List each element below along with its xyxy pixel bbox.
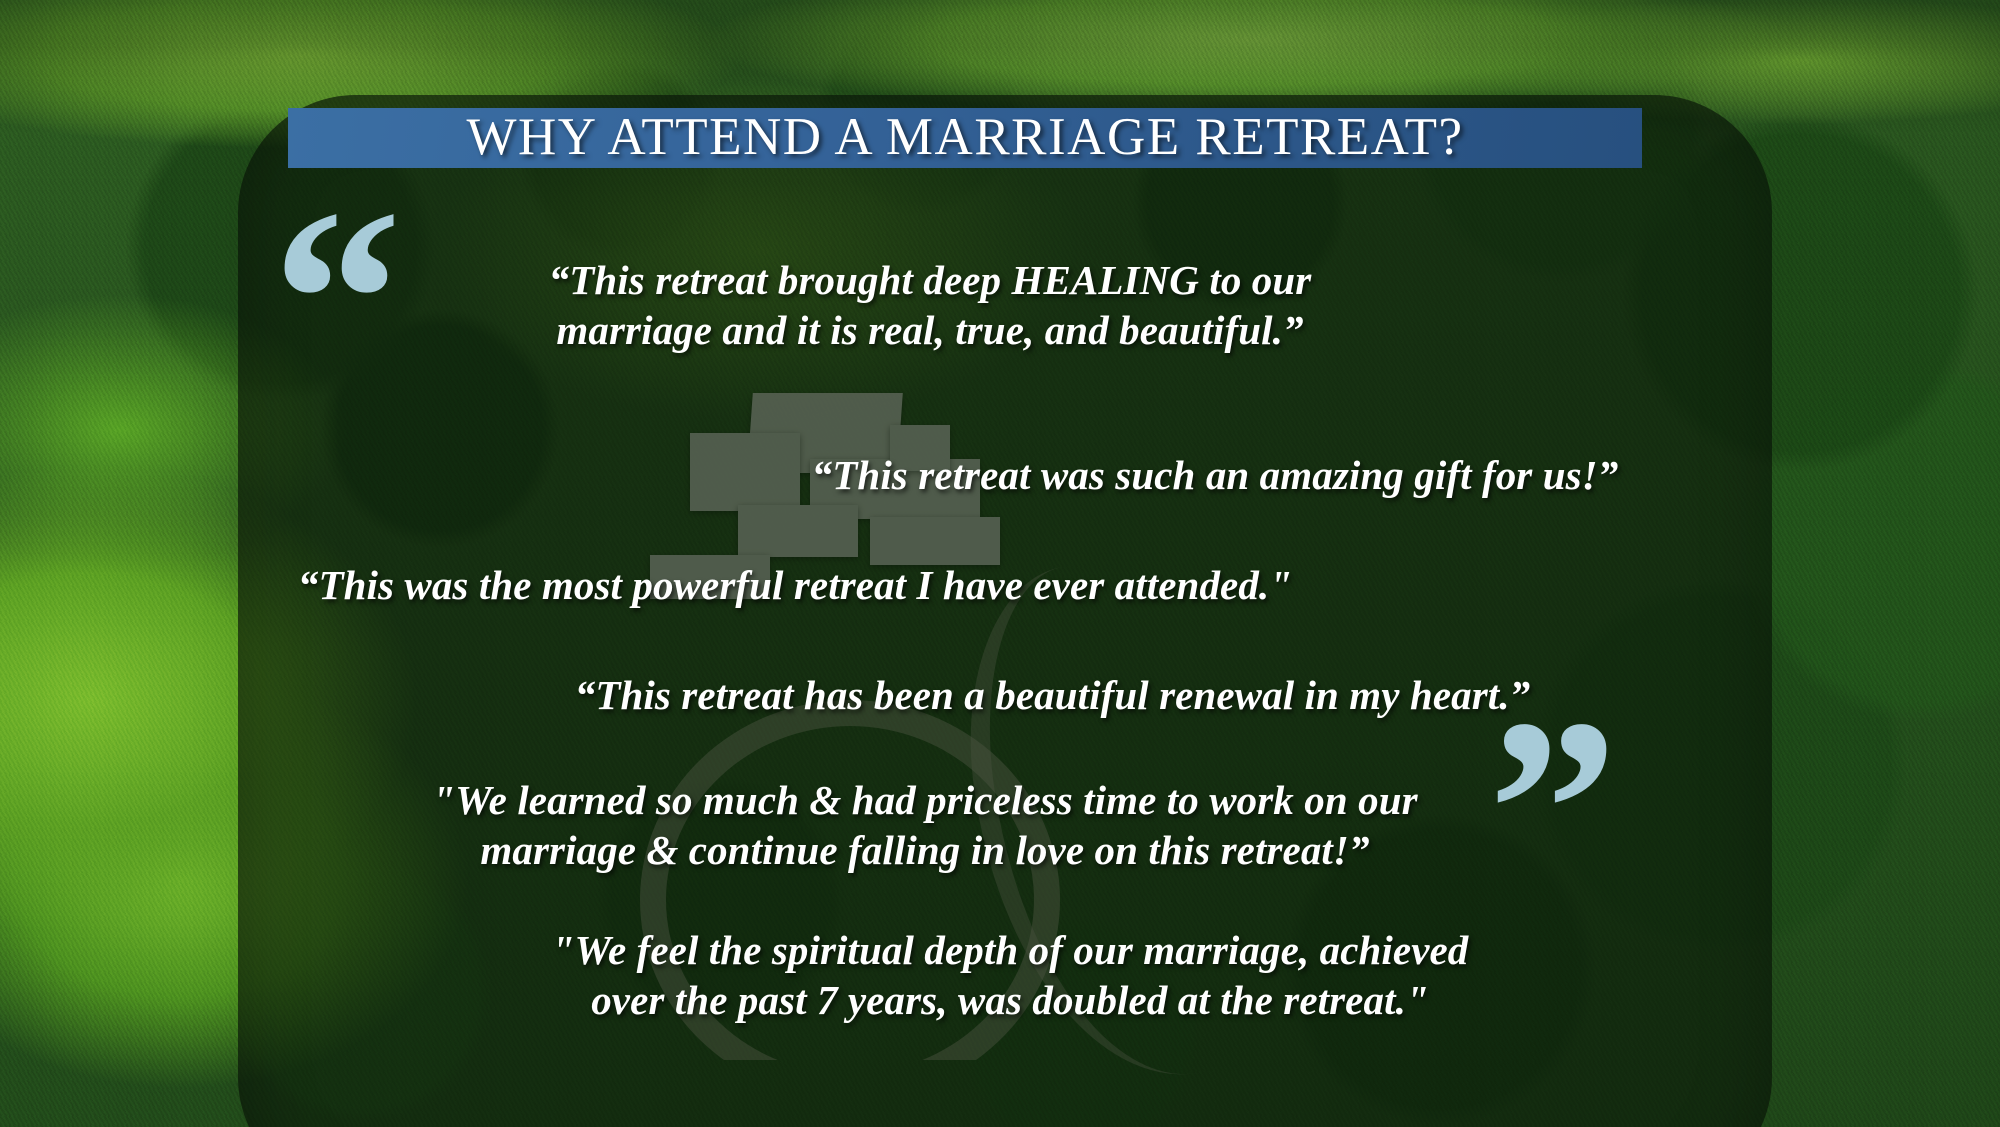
testimonial-quote-2: “This retreat was such an amazing gift f… — [670, 450, 1760, 500]
testimonial-quote-3: “This was the most powerful retreat I ha… — [205, 560, 1385, 610]
page-title: WHY ATTEND A MARRIAGE RETREAT? — [467, 111, 1464, 164]
testimonial-quote-6: "We feel the spiritual depth of our marr… — [465, 925, 1555, 1025]
open-quote-icon: “ — [272, 170, 402, 430]
testimonial-quote-1: “This retreat brought deep HEALING to ou… — [515, 255, 1345, 355]
title-banner: WHY ATTEND A MARRIAGE RETREAT? — [288, 108, 1642, 168]
slide-canvas: WHY ATTEND A MARRIAGE RETREAT? “ ” “This… — [0, 0, 2000, 1127]
testimonial-quote-4: “This retreat has been a beautiful renew… — [500, 670, 1605, 720]
testimonial-quote-5: "We learned so much & had priceless time… — [380, 775, 1470, 875]
